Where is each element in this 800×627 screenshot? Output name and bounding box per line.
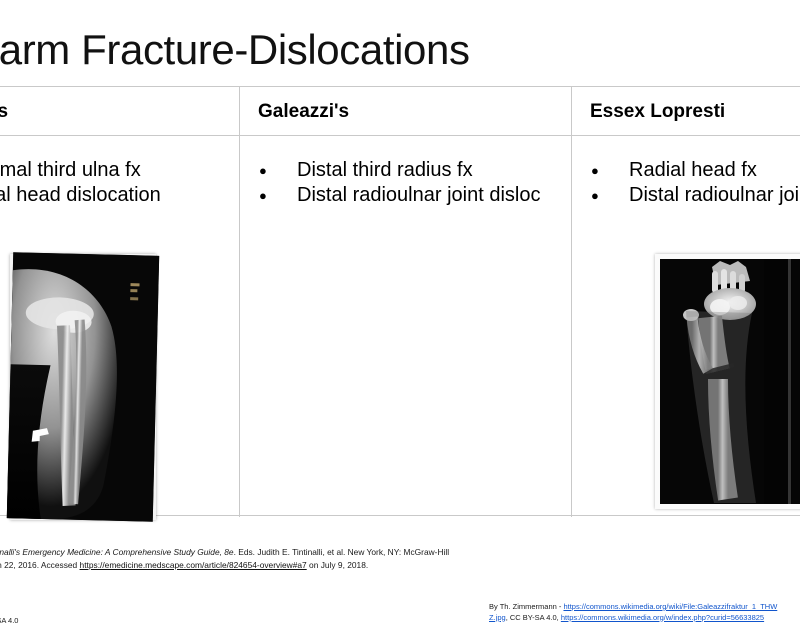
reference-link-medscape[interactable]: https://emedicine.medscape.com/article/8… xyxy=(80,560,307,570)
ref2-before: Elbow Fracture. Medscape. Jan 22, 2016. … xyxy=(0,560,80,570)
caption-author: By Th. Zimmermann - xyxy=(489,602,561,611)
caption-license: , CC BY-SA 4.0, xyxy=(506,613,561,622)
list-item: Distal radioulnar joint disloc xyxy=(259,183,563,208)
list-item: Radial head fx xyxy=(591,158,800,183)
caption-license: , CC BY-SA 4.0 xyxy=(0,616,18,625)
list-item: Proximal third ulna fx xyxy=(0,158,231,183)
bullet-list-essex-lopresti: Radial head fx Distal radioulnar joint d… xyxy=(571,158,800,208)
ref1-italic-title: Tintinalli's Emergency Medicine: A Compr… xyxy=(0,547,234,557)
table-cell-galeazzi: Distal third radius fx Distal radioulnar… xyxy=(239,136,571,517)
slide-canvas: Forearm Fracture-Dislocations Monteggia'… xyxy=(0,0,800,600)
list-item: Radial head dislocation xyxy=(0,183,231,208)
ref1-after: . Eds. Judith E. Tintinalli, et al. New … xyxy=(234,547,450,557)
image-caption-monteggia: https://commons.wikimedia.org/wiki/File:… xyxy=(0,616,128,627)
table-cell-monteggia: Proximal third ulna fx Radial head dislo… xyxy=(0,136,239,517)
caption-link-curid[interactable]: https://commons.wikimedia.org/w/index.ph… xyxy=(561,613,764,622)
column-header-galeazzi: Galeazzi's xyxy=(239,87,349,136)
page-title: Forearm Fracture-Dislocations xyxy=(0,24,634,76)
image-caption-galeazzi: By Th. Zimmermann - https://commons.wiki… xyxy=(489,602,781,623)
footer-references: • bow and Forearm Injuries. Tintinalli's… xyxy=(0,546,800,572)
bullet-list-monteggia: Proximal third ulna fx Radial head dislo… xyxy=(0,158,239,208)
list-item: Distal third radius fx xyxy=(259,158,563,183)
monteggia-lateral-xray xyxy=(10,254,156,520)
ref2-after: on July 9, 2018. xyxy=(307,560,368,570)
column-header-monteggia: Monteggia's xyxy=(0,87,8,136)
comparison-table: Monteggia's Galeazzi's Essex Lopresti Pr… xyxy=(0,86,800,516)
table-cell-essex-lopresti: Radial head fx Distal radioulnar joint d… xyxy=(571,136,800,517)
list-item: Distal radioulnar joint disloc xyxy=(591,183,800,208)
column-header-essex-lopresti: Essex Lopresti xyxy=(571,87,725,136)
reference-line-2: Elbow Fracture. Medscape. Jan 22, 2016. … xyxy=(0,559,800,572)
reference-line-1: bow and Forearm Injuries. Tintinalli's E… xyxy=(0,546,800,559)
bullet-list-galeazzi: Distal third radius fx Distal radioulnar… xyxy=(239,158,571,208)
